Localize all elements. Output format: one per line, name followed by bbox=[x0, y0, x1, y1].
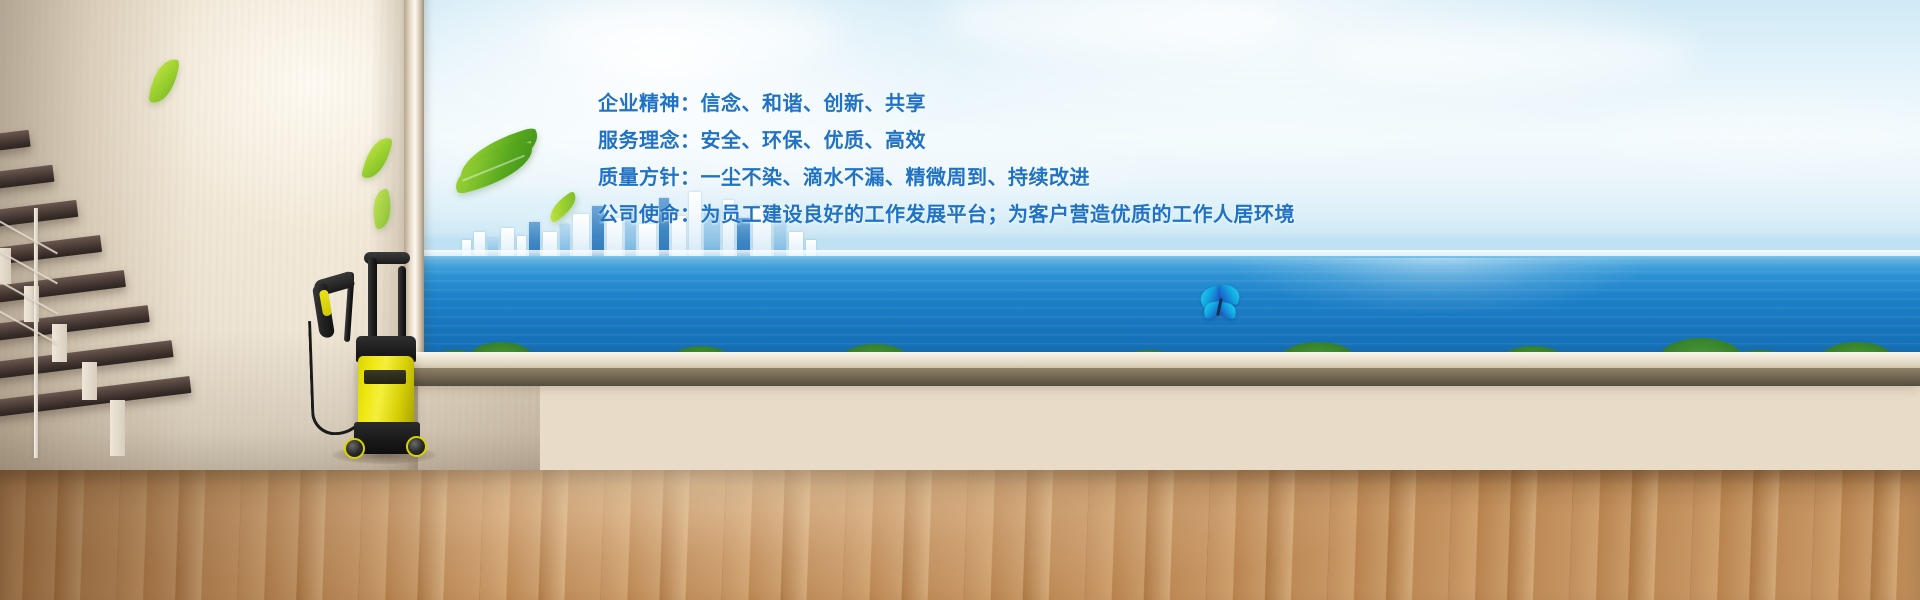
cloud bbox=[1318, 24, 1698, 84]
stair-riser bbox=[82, 362, 97, 400]
stair-riser bbox=[110, 400, 125, 456]
stair-step bbox=[0, 270, 126, 305]
washer-wheel bbox=[344, 438, 365, 459]
butterfly-icon bbox=[1198, 286, 1242, 328]
cloud bbox=[538, 4, 838, 68]
washer-wheel bbox=[406, 436, 427, 457]
baseboard bbox=[404, 368, 1920, 386]
slogan-line-3: 质量方针：一尘不染、滴水不漏、精微周到、持续改进 bbox=[598, 160, 1358, 197]
floor-shadow bbox=[0, 470, 520, 600]
stair-step bbox=[0, 200, 78, 229]
slogan-line-2: 服务理念：安全、环保、优质、高效 bbox=[598, 123, 1358, 160]
staircase bbox=[0, 130, 230, 490]
stair-step bbox=[0, 165, 54, 191]
pressure-washer bbox=[306, 250, 432, 460]
slogan-line-4: 公司使命：为员工建设良好的工作发展平台；为客户营造优质的工作人居环境 bbox=[598, 197, 1358, 234]
washer-control-panel bbox=[364, 370, 406, 384]
stair-step bbox=[0, 130, 31, 153]
washer-body bbox=[358, 356, 414, 430]
cloud bbox=[1598, 104, 1918, 158]
slogan-line-1: 企业精神：信念、和谐、创新、共享 bbox=[598, 86, 1358, 123]
slogan-block: 企业精神：信念、和谐、创新、共享 服务理念：安全、环保、优质、高效 质量方针：一… bbox=[598, 86, 1358, 234]
company-culture-banner: 企业精神：信念、和谐、创新、共享 服务理念：安全、环保、优质、高效 质量方针：一… bbox=[0, 0, 1920, 600]
